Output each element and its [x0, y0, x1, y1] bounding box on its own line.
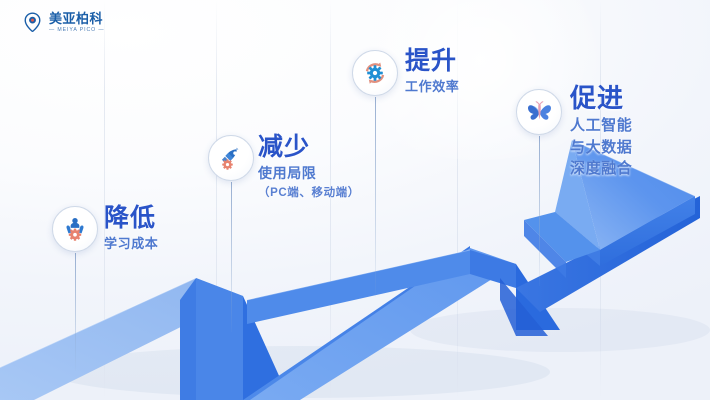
brand-logo: 美亚柏科 — MEIYA PICO — [22, 12, 104, 33]
shield-pin-logo-icon [22, 12, 43, 33]
marker-stem-3 [375, 97, 376, 297]
marker-stem-2 [231, 182, 232, 332]
milestone-sub-4-line2: 与大数据 [570, 138, 632, 158]
team-gear-icon [61, 215, 89, 243]
milestone-sub-4-line1: 人工智能 [570, 116, 632, 136]
butterfly-icon [525, 98, 554, 127]
milestone-icon-badge-2[interactable] [208, 135, 254, 181]
brand-name-en: — MEIYA PICO — [49, 28, 104, 33]
milestone-headline-1: 降低 [104, 205, 158, 231]
milestone-sub-3: 工作效率 [405, 78, 459, 96]
milestone-headline-4: 促进 [570, 85, 632, 112]
milestone-icon-badge-1[interactable] [52, 206, 98, 252]
milestone-text-2: 减少 使用局限 （PC端、移动端） [258, 134, 360, 202]
marker-stem-1 [75, 253, 76, 371]
rocket-gear-icon [217, 144, 245, 172]
milestone-sub-1: 学习成本 [104, 235, 158, 253]
milestone-text-1: 降低 学习成本 [104, 205, 158, 253]
milestone-headline-3: 提升 [405, 48, 459, 74]
milestone-sub-4-line3: 深度融合 [570, 159, 632, 179]
brand-name-cn: 美亚柏科 [49, 12, 104, 25]
milestone-text-3: 提升 工作效率 [405, 48, 459, 96]
milestone-note-2: （PC端、移动端） [258, 186, 360, 202]
milestone-text-4: 促进 人工智能 与大数据 深度融合 [570, 85, 632, 179]
refresh-gear-icon [360, 58, 390, 88]
marker-stem-4 [539, 136, 540, 286]
milestone-icon-badge-4[interactable] [516, 89, 562, 135]
milestone-icon-badge-3[interactable] [352, 50, 398, 96]
slide-canvas: 美亚柏科 — MEIYA PICO — [0, 0, 710, 400]
milestone-sub-2: 使用局限 [258, 164, 360, 183]
milestone-headline-2: 减少 [258, 134, 360, 160]
